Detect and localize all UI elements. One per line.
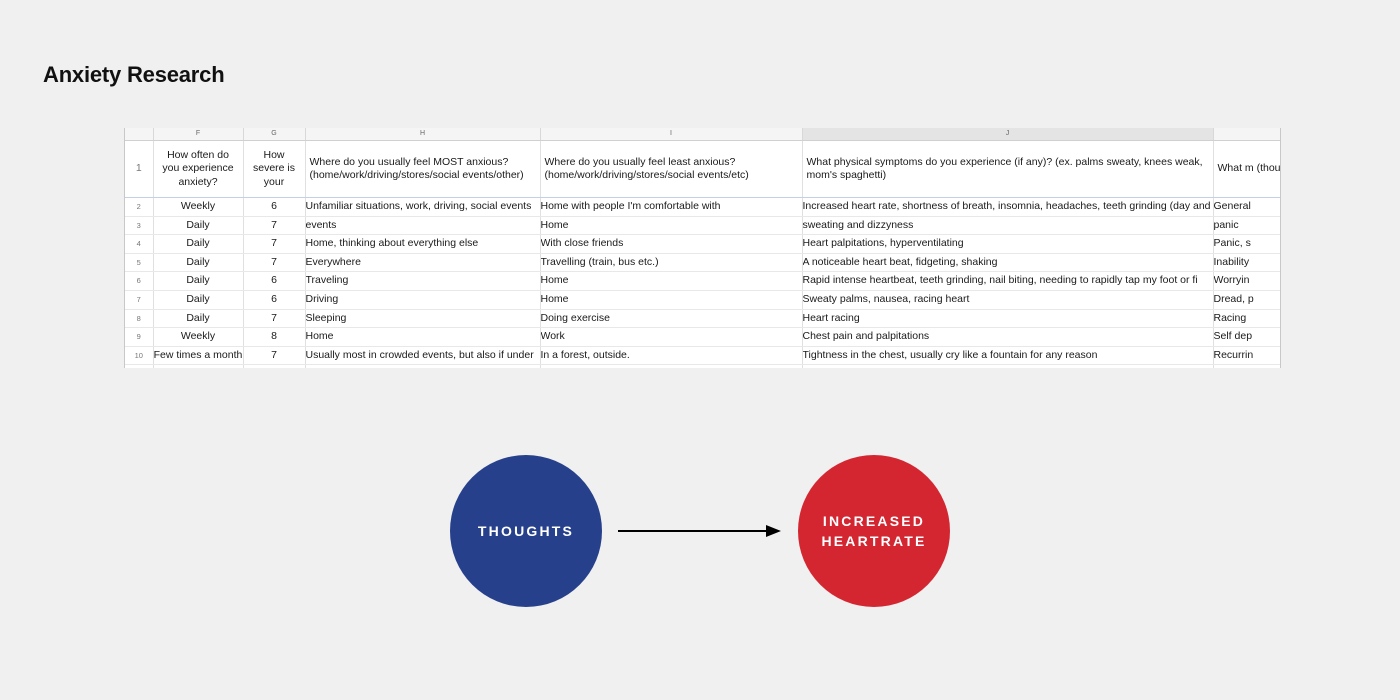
table-row: 9Weekly8HomeWorkChest pain and palpitati… [125, 328, 1281, 347]
row-number[interactable]: 6 [125, 272, 153, 291]
table-row: 10Few times a month7Usually most in crow… [125, 346, 1281, 365]
spreadsheet-viewport[interactable]: F G H I J 1 How often do you experience … [124, 128, 1281, 368]
cell-least-anxious[interactable]: Doing exercise [540, 309, 802, 328]
spreadsheet-table: F G H I J 1 How often do you experience … [125, 128, 1281, 368]
cell-most-anxious[interactable]: events [305, 216, 540, 235]
cell-severity[interactable]: 7 [243, 346, 305, 365]
cell-frequency[interactable]: Daily [153, 290, 243, 309]
column-header-h[interactable]: H [305, 128, 540, 141]
cell-most-anxious[interactable]: Traveling [305, 272, 540, 291]
header-cell-most-anxious[interactable]: Where do you usually feel MOST anxious? … [305, 141, 540, 198]
cell-frequency[interactable]: Daily [153, 235, 243, 254]
table-row: 3Daily7eventsHomesweating and dizzynessp… [125, 216, 1281, 235]
cell-most-anxious[interactable]: Work [305, 365, 540, 368]
cell-frequency[interactable]: Daily [153, 216, 243, 235]
thoughts-heartrate-diagram: THOUGHTS INCREASED HEARTRATE [450, 455, 950, 610]
row-number[interactable]: 3 [125, 216, 153, 235]
header-cell-frequency[interactable]: How often do you experience anxiety? [153, 141, 243, 198]
cell-severity[interactable]: 7 [243, 216, 305, 235]
table-row: 8Daily7SleepingDoing exerciseHeart racin… [125, 309, 1281, 328]
diagram-node-increased-heartrate[interactable]: INCREASED HEARTRATE [798, 455, 950, 607]
table-row: 11Weekly1WorkHomeNoneMelodra [125, 365, 1281, 368]
cell-frequency[interactable]: Daily [153, 309, 243, 328]
column-header-f[interactable]: F [153, 128, 243, 141]
cell-physical-symptoms[interactable]: Rapid intense heartbeat, teeth grinding,… [802, 272, 1213, 291]
cell-most-anxious[interactable]: Usually most in crowded events, but also… [305, 346, 540, 365]
cell-least-anxious[interactable]: Home [540, 272, 802, 291]
cell-least-anxious[interactable]: Work [540, 328, 802, 347]
cell-severity[interactable]: 6 [243, 290, 305, 309]
cell-least-anxious[interactable]: In a forest, outside. [540, 346, 802, 365]
row-number[interactable]: 11 [125, 365, 153, 368]
cell-frequency[interactable]: Daily [153, 253, 243, 272]
spreadsheet-body: 2Weekly6Unfamiliar situations, work, dri… [125, 198, 1281, 369]
row-number[interactable]: 4 [125, 235, 153, 254]
column-header-k[interactable] [1213, 128, 1281, 141]
column-header-j[interactable]: J [802, 128, 1213, 141]
cell-least-anxious[interactable]: With close friends [540, 235, 802, 254]
header-cell-least-anxious[interactable]: Where do you usually feel least anxious?… [540, 141, 802, 198]
arrow-right-icon [618, 517, 782, 545]
cell-physical-symptoms[interactable]: Tightness in the chest, usually cry like… [802, 346, 1213, 365]
cell-mental-symptoms[interactable]: Inability [1213, 253, 1281, 272]
cell-mental-symptoms[interactable]: Racing [1213, 309, 1281, 328]
cell-physical-symptoms[interactable]: Chest pain and palpitations [802, 328, 1213, 347]
cell-frequency[interactable]: Weekly [153, 198, 243, 217]
cell-most-anxious[interactable]: Everywhere [305, 253, 540, 272]
cell-severity[interactable]: 1 [243, 365, 305, 368]
cell-severity[interactable]: 6 [243, 272, 305, 291]
cell-severity[interactable]: 6 [243, 198, 305, 217]
cell-physical-symptoms[interactable]: None [802, 365, 1213, 368]
row-number[interactable]: 2 [125, 198, 153, 217]
table-row: 5Daily7EverywhereTravelling (train, bus … [125, 253, 1281, 272]
cell-mental-symptoms[interactable]: Worryin [1213, 272, 1281, 291]
row-number-1[interactable]: 1 [125, 141, 153, 198]
cell-frequency[interactable]: Few times a month [153, 346, 243, 365]
cell-most-anxious[interactable]: Home [305, 328, 540, 347]
table-row: 2Weekly6Unfamiliar situations, work, dri… [125, 198, 1281, 217]
cell-physical-symptoms[interactable]: Heart racing [802, 309, 1213, 328]
cell-mental-symptoms[interactable]: General [1213, 198, 1281, 217]
cell-most-anxious[interactable]: Driving [305, 290, 540, 309]
cell-physical-symptoms[interactable]: sweating and dizzyness [802, 216, 1213, 235]
cell-mental-symptoms[interactable]: Dread, p [1213, 290, 1281, 309]
cell-frequency[interactable]: Weekly [153, 328, 243, 347]
cell-frequency[interactable]: Weekly [153, 365, 243, 368]
cell-severity[interactable]: 7 [243, 235, 305, 254]
cell-physical-symptoms[interactable]: Heart palpitations, hyperventilating [802, 235, 1213, 254]
cell-least-anxious[interactable]: Home [540, 216, 802, 235]
diagram-node-thoughts[interactable]: THOUGHTS [450, 455, 602, 607]
row-number[interactable]: 9 [125, 328, 153, 347]
cell-frequency[interactable]: Daily [153, 272, 243, 291]
cell-severity[interactable]: 7 [243, 253, 305, 272]
cell-least-anxious[interactable]: Home [540, 290, 802, 309]
table-row: 7Daily6DrivingHomeSweaty palms, nausea, … [125, 290, 1281, 309]
cell-physical-symptoms[interactable]: Increased heart rate, shortness of breat… [802, 198, 1213, 217]
cell-physical-symptoms[interactable]: Sweaty palms, nausea, racing heart [802, 290, 1213, 309]
header-cell-mental-symptoms[interactable]: What m (though feelings [1213, 141, 1281, 198]
cell-most-anxious[interactable]: Unfamiliar situations, work, driving, so… [305, 198, 540, 217]
cell-mental-symptoms[interactable]: panic [1213, 216, 1281, 235]
cell-most-anxious[interactable]: Sleeping [305, 309, 540, 328]
table-row: 4Daily7Home, thinking about everything e… [125, 235, 1281, 254]
cell-least-anxious[interactable]: Home [540, 365, 802, 368]
cell-severity[interactable]: 7 [243, 309, 305, 328]
column-header-i[interactable]: I [540, 128, 802, 141]
cell-physical-symptoms[interactable]: A noticeable heart beat, fidgeting, shak… [802, 253, 1213, 272]
diagram-arrow [618, 517, 782, 545]
header-cell-severity[interactable]: How severe is your [243, 141, 305, 198]
cell-mental-symptoms[interactable]: Recurrin [1213, 346, 1281, 365]
question-header-row: 1 How often do you experience anxiety? H… [125, 141, 1281, 198]
cell-mental-symptoms[interactable]: Self dep [1213, 328, 1281, 347]
column-header-g[interactable]: G [243, 128, 305, 141]
cell-least-anxious[interactable]: Home with people I'm comfortable with [540, 198, 802, 217]
cell-least-anxious[interactable]: Travelling (train, bus etc.) [540, 253, 802, 272]
table-row: 6Daily6TravelingHomeRapid intense heartb… [125, 272, 1281, 291]
cell-mental-symptoms[interactable]: Melodra [1213, 365, 1281, 368]
row-number[interactable]: 5 [125, 253, 153, 272]
cell-most-anxious[interactable]: Home, thinking about everything else [305, 235, 540, 254]
column-header-row: F G H I J [125, 128, 1281, 141]
cell-mental-symptoms[interactable]: Panic, s [1213, 235, 1281, 254]
row-number[interactable]: 10 [125, 346, 153, 365]
row-number[interactable]: 7 [125, 290, 153, 309]
header-cell-physical-symptoms[interactable]: What physical symptoms do you experience… [802, 141, 1213, 198]
row-number[interactable]: 8 [125, 309, 153, 328]
cell-severity[interactable]: 8 [243, 328, 305, 347]
page-title: Anxiety Research [43, 62, 224, 88]
spreadsheet-inner: F G H I J 1 How often do you experience … [125, 128, 1281, 368]
sheet-corner-box[interactable] [125, 128, 153, 141]
